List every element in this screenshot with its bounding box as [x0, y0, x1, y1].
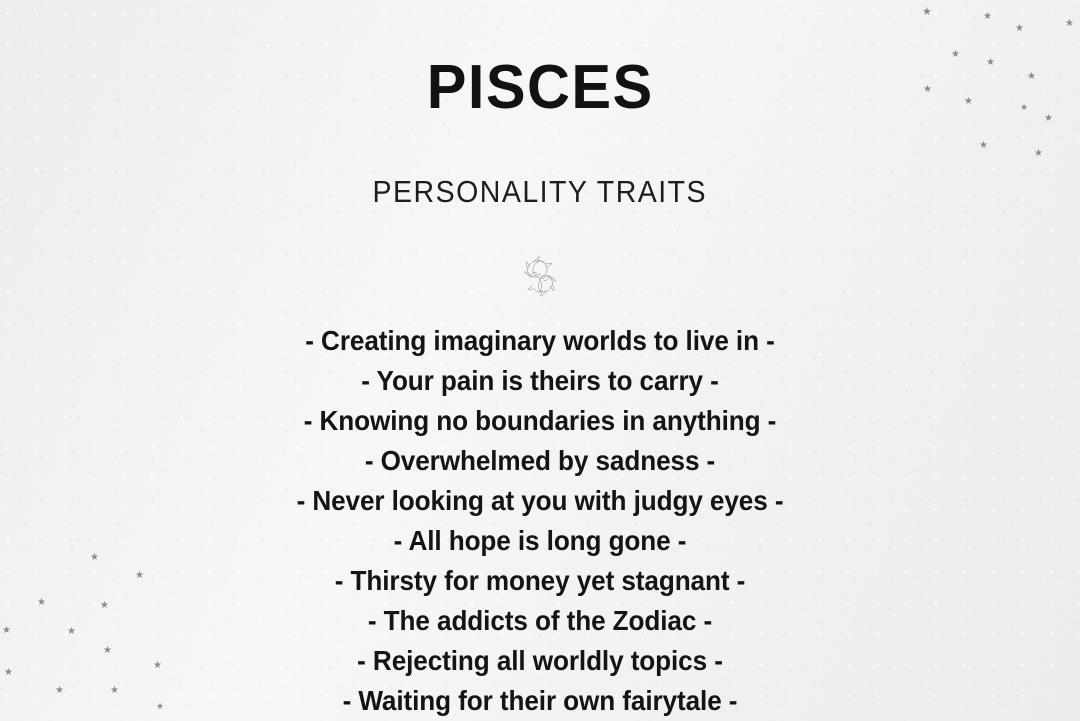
page-subtitle: PERSONALITY TRAITS: [373, 176, 708, 207]
trait-item: - All hope is long gone -: [27, 521, 1053, 561]
page-title: PISCES: [427, 57, 654, 119]
trait-item: - Your pain is theirs to carry -: [27, 361, 1053, 401]
trait-item: - Waiting for their own fairytale -: [27, 681, 1053, 721]
trait-item: - Knowing no boundaries in anything -: [27, 401, 1053, 441]
pisces-fish-icon: [500, 255, 580, 298]
trait-item: - Overwhelmed by sadness -: [27, 441, 1053, 481]
traits-list: - Creating imaginary worlds to live in -…: [0, 321, 1080, 721]
poster-content: PISCES PERSONALITY TRAITS - Cr: [0, 0, 1080, 721]
trait-item: - Never looking at you with judgy eyes -: [27, 481, 1053, 521]
trait-item: - Thirsty for money yet stagnant -: [27, 561, 1053, 601]
trait-item: - Rejecting all worldly topics -: [27, 641, 1053, 681]
trait-item: - Creating imaginary worlds to live in -: [27, 321, 1053, 361]
trait-item: - The addicts of the Zodiac -: [27, 601, 1053, 641]
